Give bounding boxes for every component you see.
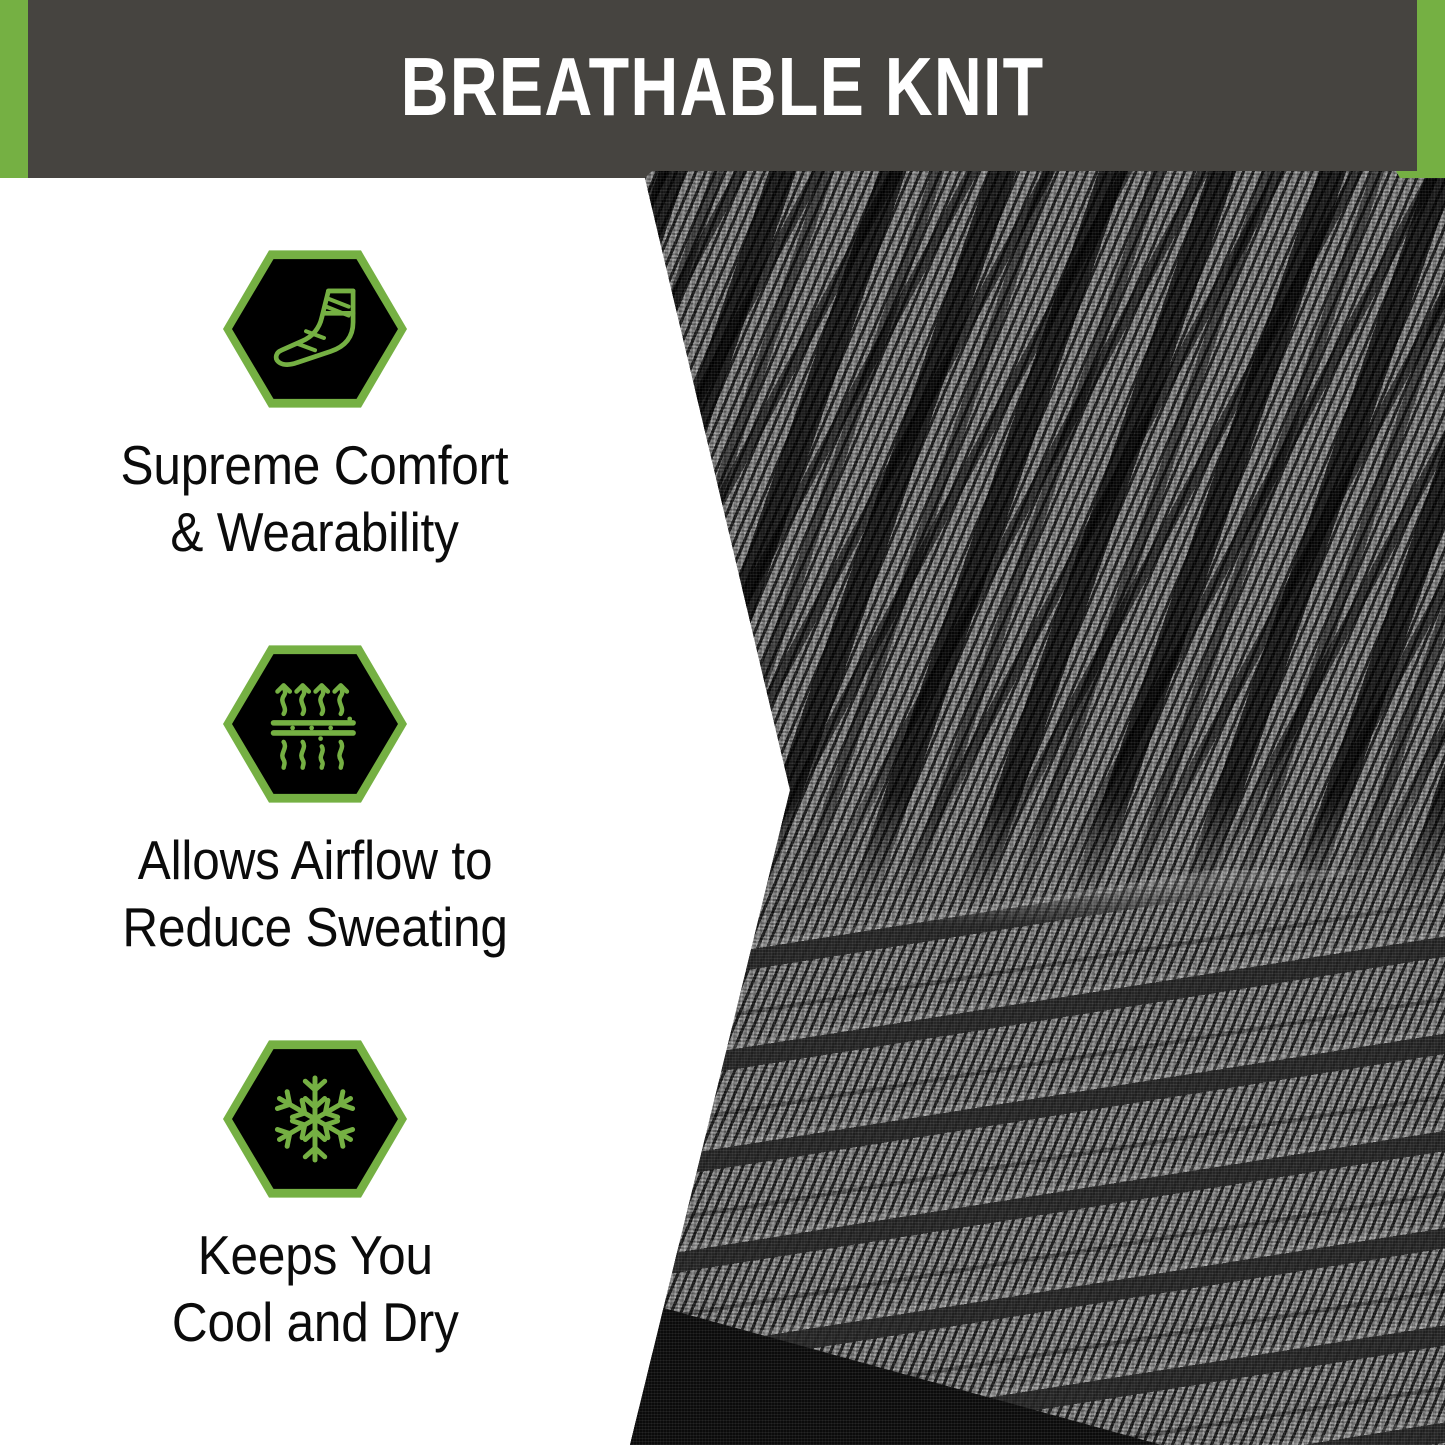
banner-title: BREATHABLE KNIT <box>167 0 1278 178</box>
feature-item-supreme-comfort: Supreme Comfort & Wearability <box>0 248 630 566</box>
feature-icon-badge <box>223 1038 407 1200</box>
feature-icon-badge <box>223 643 407 805</box>
airflow-icon <box>259 668 371 780</box>
feature-item-allows-airflow: Allows Airflow to Reduce Sweating <box>0 643 630 961</box>
feature-caption: Keeps You Cool and Dry <box>172 1222 459 1356</box>
feature-caption: Supreme Comfort & Wearability <box>121 432 509 566</box>
feature-item-keeps-cool-dry: Keeps You Cool and Dry <box>0 1038 630 1356</box>
infographic-root: BREATHABLE KNIT <box>0 0 1445 1445</box>
header-banner: BREATHABLE KNIT <box>0 0 1445 180</box>
feature-caption-line-2: Cool and Dry <box>172 1289 459 1356</box>
sock-icon <box>259 273 371 385</box>
feature-caption-line-2: Reduce Sweating <box>122 894 507 961</box>
feature-caption-line-1: Allows Airflow to <box>122 827 507 894</box>
feature-caption: Allows Airflow to Reduce Sweating <box>122 827 507 961</box>
snowflake-icon <box>261 1065 369 1173</box>
feature-caption-line-1: Supreme Comfort <box>121 432 509 499</box>
feature-caption-line-2: & Wearability <box>121 499 509 566</box>
feature-list: Supreme Comfort & Wearability <box>0 178 630 1445</box>
feature-icon-badge <box>223 248 407 410</box>
feature-caption-line-1: Keeps You <box>172 1222 459 1289</box>
banner-ribbon: BREATHABLE KNIT <box>28 0 1417 178</box>
